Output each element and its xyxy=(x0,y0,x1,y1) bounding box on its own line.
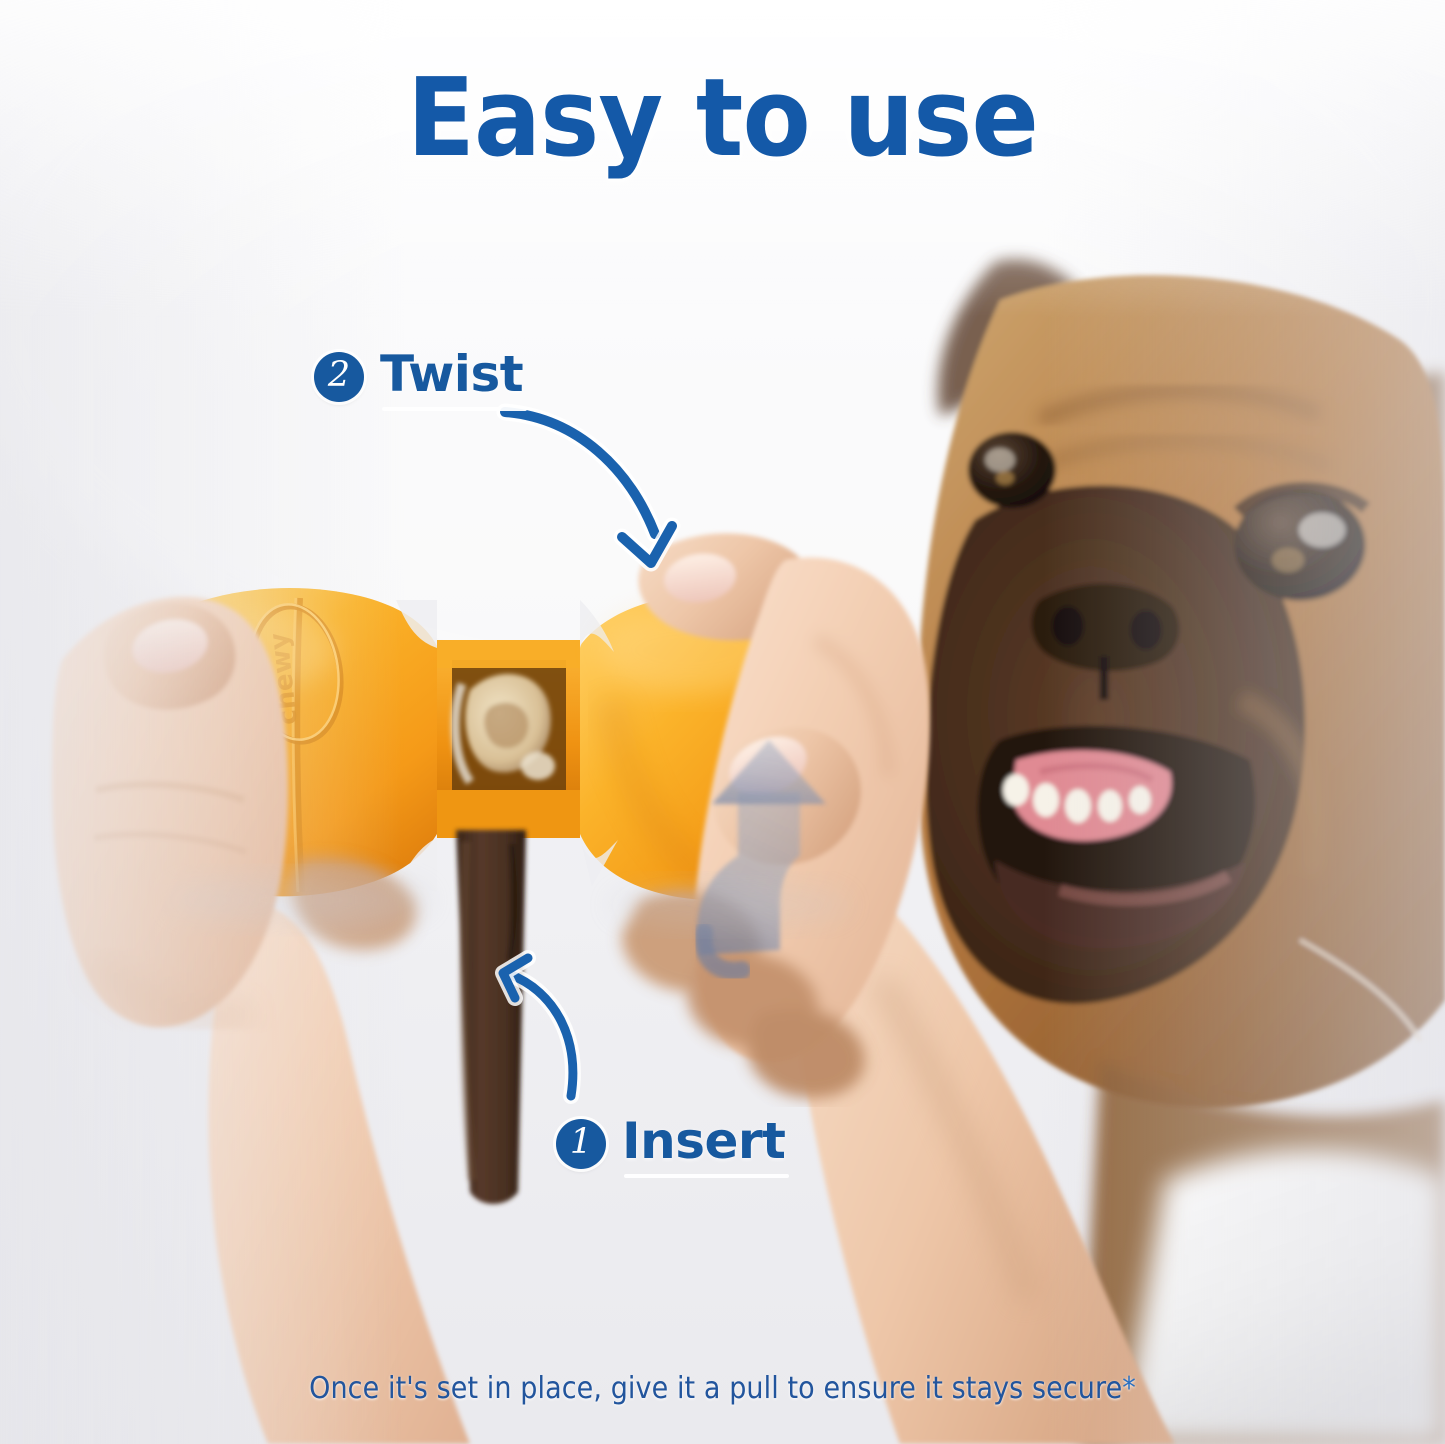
infographic-canvas: chewy xyxy=(0,0,1445,1444)
step-insert: 1 Insert xyxy=(556,1112,785,1176)
footnote-caption: Once it's set in place, give it a pull t… xyxy=(72,1371,1373,1406)
circled-number-two-icon: 2 xyxy=(314,352,364,402)
step-twist-label: Twist xyxy=(380,345,523,409)
circled-number-one-icon: 1 xyxy=(556,1119,606,1169)
step-insert-label: Insert xyxy=(622,1112,785,1176)
step-twist: 2 Twist xyxy=(314,345,523,409)
brown-chew-stick xyxy=(456,830,526,1204)
page-title: Easy to use xyxy=(58,62,1387,175)
footnote-text: Once it's set in place, give it a pull t… xyxy=(309,1371,1122,1406)
footnote-asterisk: * xyxy=(1122,1371,1136,1406)
product-photo: chewy xyxy=(0,0,1445,1444)
